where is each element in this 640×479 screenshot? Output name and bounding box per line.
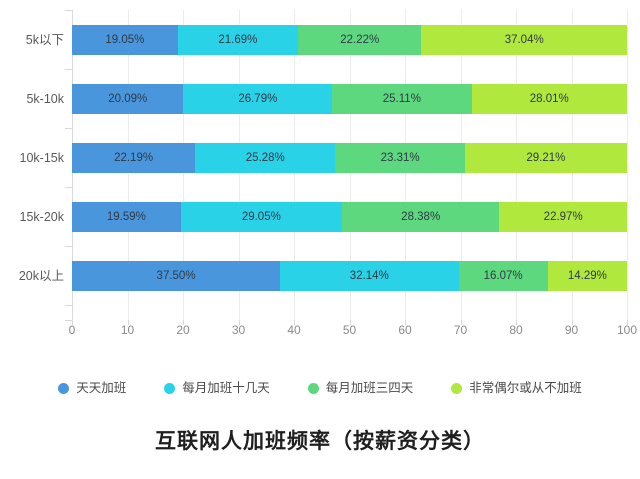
legend: 天天加班每月加班十几天每月加班三四天非常偶尔或从不加班 [0, 382, 640, 395]
legend-item-1[interactable]: 天天加班 [58, 382, 126, 395]
x-axis-tick-label: 20 [163, 324, 203, 336]
y-axis-tick [65, 128, 72, 129]
bar-segment[interactable]: 37.50% [72, 261, 280, 291]
bar-row: 22.19%25.28%23.31%29.21% [0, 143, 640, 173]
bar-row: 20.09%26.79%25.11%28.01% [0, 84, 640, 114]
bar-segment[interactable]: 37.04% [421, 25, 627, 55]
bar-row: 19.05%21.69%22.22%37.04% [0, 25, 640, 55]
bar-row: 37.50%32.14%16.07%14.29% [0, 261, 640, 291]
bar-segment[interactable]: 25.28% [195, 143, 335, 173]
legend-dot-icon [164, 383, 175, 394]
bar-segment[interactable]: 26.79% [183, 84, 332, 114]
bar-segment[interactable]: 22.19% [72, 143, 195, 173]
bar-segment[interactable]: 20.09% [72, 84, 183, 114]
bar-row: 19.59%29.05%28.38%22.97% [0, 202, 640, 232]
bar-segment[interactable]: 29.05% [181, 202, 342, 232]
x-axis-tick-label: 0 [52, 324, 92, 336]
bar-segment[interactable]: 14.29% [548, 261, 627, 291]
legend-label: 非常偶尔或从不加班 [469, 382, 582, 395]
legend-label: 每月加班三四天 [326, 382, 414, 395]
bar-segment[interactable]: 19.05% [72, 25, 178, 55]
legend-item-3[interactable]: 每月加班三四天 [308, 382, 414, 395]
y-axis-tick [65, 305, 72, 306]
x-axis-tick-label: 70 [441, 324, 481, 336]
bar-segment[interactable]: 32.14% [280, 261, 458, 291]
x-axis-tick-label: 50 [330, 324, 370, 336]
legend-dot-icon [308, 383, 319, 394]
y-axis-tick [65, 69, 72, 70]
bar-segment[interactable]: 23.31% [335, 143, 464, 173]
bar-segment[interactable]: 19.59% [72, 202, 181, 232]
stacked-bar-chart: 5k以下19.05%21.69%22.22%37.04%5k-10k20.09%… [0, 0, 640, 479]
legend-item-2[interactable]: 每月加班十几天 [164, 382, 270, 395]
x-axis-tick-label: 100 [607, 324, 640, 336]
x-axis-tick-label: 80 [496, 324, 536, 336]
x-axis-tick-label: 60 [385, 324, 425, 336]
x-axis-tick-label: 90 [552, 324, 592, 336]
legend-item-4[interactable]: 非常偶尔或从不加班 [451, 382, 582, 395]
chart-title: 互联网人加班频率（按薪资分类） [0, 428, 640, 455]
y-axis-tick [65, 246, 72, 247]
x-axis-tick-label: 30 [219, 324, 259, 336]
bar-segment[interactable]: 21.69% [178, 25, 298, 55]
bar-segment[interactable]: 28.38% [342, 202, 500, 232]
bar-segment[interactable]: 22.97% [499, 202, 626, 232]
y-axis-tick [65, 187, 72, 188]
y-axis-tick [65, 320, 72, 321]
bar-segment[interactable]: 25.11% [332, 84, 471, 114]
x-axis-tick-label: 10 [108, 324, 148, 336]
x-axis-tick-label: 40 [274, 324, 314, 336]
bar-segment[interactable]: 16.07% [459, 261, 548, 291]
bar-segment[interactable]: 22.22% [298, 25, 421, 55]
y-axis-tick [65, 10, 72, 11]
bar-segment[interactable]: 28.01% [472, 84, 627, 114]
legend-label: 每月加班十几天 [182, 382, 270, 395]
bar-segment[interactable]: 29.21% [465, 143, 627, 173]
legend-dot-icon [451, 383, 462, 394]
legend-dot-icon [58, 383, 69, 394]
legend-label: 天天加班 [76, 382, 126, 395]
